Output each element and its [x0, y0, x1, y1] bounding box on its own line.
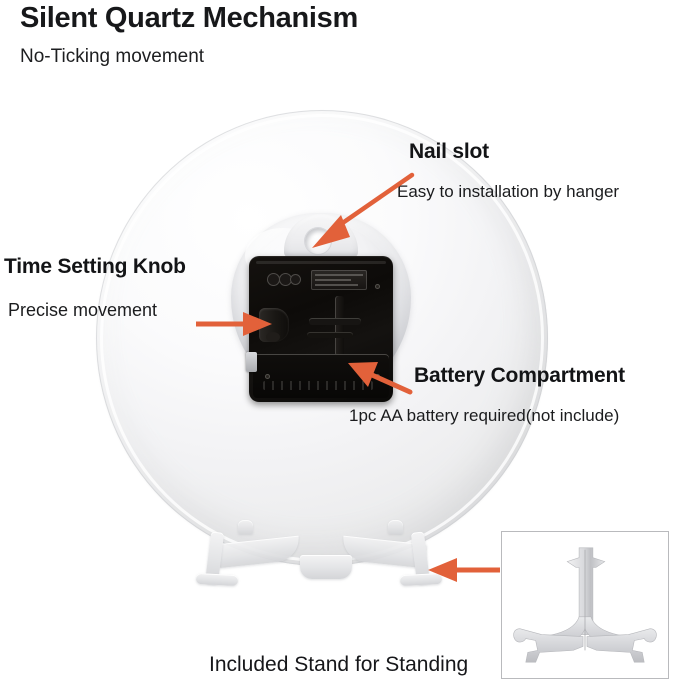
time-setting-knob[interactable]	[259, 308, 289, 342]
stand-cradle-left	[215, 536, 301, 569]
battery-spring-contact	[246, 352, 257, 372]
callout-desc-time-setting-knob: Precise movement	[8, 300, 157, 321]
battery-compartment[interactable]	[253, 354, 389, 398]
callout-title-battery-compartment: Battery Compartment	[414, 364, 625, 388]
movement-screw	[375, 284, 380, 289]
page-title: Silent Quartz Mechanism	[20, 2, 358, 35]
stand-clip-right	[388, 520, 403, 534]
movement-horizontal-slot	[309, 318, 361, 325]
quartz-movement-module	[249, 256, 393, 402]
label-line	[315, 274, 363, 276]
gear-dot	[290, 274, 301, 285]
stand-inset-panel	[501, 531, 669, 679]
product-photo-stage	[0, 78, 679, 578]
callout-title-time-setting-knob: Time Setting Knob	[4, 255, 186, 279]
display-stand-illustration	[502, 532, 668, 678]
nail-slot-hole	[305, 228, 331, 254]
movement-gear-dots	[267, 273, 301, 286]
callout-title-nail-slot: Nail slot	[409, 140, 489, 164]
movement-screw	[375, 374, 380, 379]
label-line	[315, 279, 351, 281]
product-infographic: Silent Quartz Mechanism No-Ticking movem…	[0, 0, 679, 686]
label-line	[315, 284, 358, 286]
movement-label-plate	[311, 270, 367, 290]
movement-top-ridge	[256, 261, 386, 264]
stand-foot-left	[196, 573, 239, 586]
movement-vertical-slot	[335, 296, 344, 356]
movement-horizontal-slot-2	[307, 332, 353, 338]
stand-caption: Included Stand for Standing	[209, 653, 468, 677]
stand-center-post	[300, 555, 352, 579]
callout-desc-nail-slot: Easy to installation by hanger	[397, 182, 619, 202]
page-subtitle: No-Ticking movement	[20, 46, 204, 68]
stand-foot-right	[400, 573, 443, 586]
callout-desc-battery-compartment: 1pc AA battery required(not include)	[349, 406, 619, 426]
display-stand-under-clock	[190, 518, 460, 578]
movement-screw	[265, 374, 270, 379]
stand-clip-left	[238, 520, 253, 534]
